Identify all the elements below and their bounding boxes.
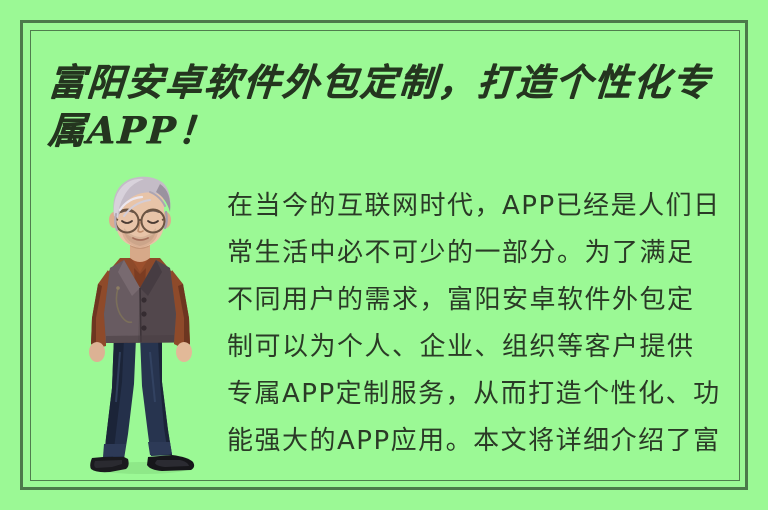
poster-canvas: 富阳安卓软件外包定制，打造个性化专 属APP！ — [0, 0, 768, 510]
vest-button-2 — [141, 311, 146, 316]
body-line-3: 不同用户的需求，富阳安卓软件外包定 — [227, 277, 739, 324]
vest-button-3 — [141, 325, 146, 330]
vest-closure-line — [140, 288, 141, 342]
character-illustration-svg — [62, 176, 218, 474]
vest-button-1 — [141, 297, 146, 302]
body-line-6: 能强大的APP应用。本文将详细介绍了富 — [227, 418, 739, 465]
body-line-5: 专属APP定制服务，从而打造个性化、功 — [227, 371, 739, 418]
character-illustration — [62, 176, 218, 474]
watch-chain-anchor — [116, 286, 120, 290]
right-cuff — [148, 442, 172, 455]
right-hand — [176, 342, 192, 362]
vest-hem — [106, 335, 174, 343]
glasses-right-temple — [162, 219, 165, 220]
title-line-1: 富阳安卓软件外包定制，打造个性化专 — [46, 58, 739, 106]
left-cuff — [103, 444, 126, 457]
body-line-4: 制可以为个人、企业、组织等客户提供 — [227, 324, 739, 371]
title-line-2: 属APP！ — [46, 106, 739, 154]
left-hand — [89, 342, 105, 362]
body-line-1: 在当今的互联网时代，APP已经是人们日 — [227, 183, 739, 230]
body-copy: 在当今的互联网时代，APP已经是人们日 常生活中必不可少的一部分。为了满足 不同… — [227, 183, 739, 465]
page-title: 富阳安卓软件外包定制，打造个性化专 属APP！ — [48, 58, 738, 154]
body-line-2: 常生活中必不可少的一部分。为了满足 — [227, 230, 739, 277]
